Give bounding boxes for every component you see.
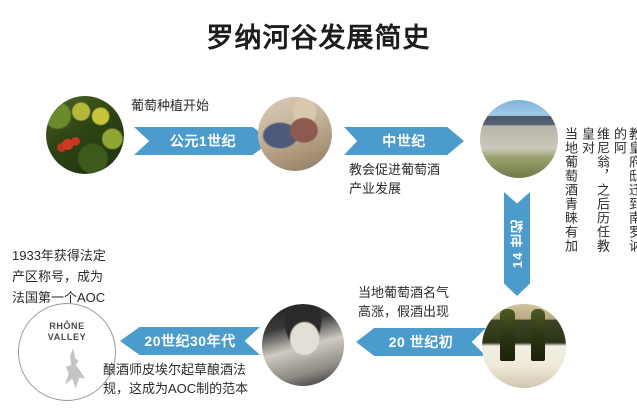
arrow-label-step-3: 14 世纪 <box>508 219 527 268</box>
vertical-column-1: 教皇府邸迁到南罗讷的阿 <box>612 127 637 255</box>
rhone-valley-map-icon <box>61 348 86 390</box>
rhone-valley-logo: RHÔNE VALLEY <box>18 303 116 401</box>
caption-step-6: 1933年获得法定 产区称号，成为 法国第一个AOC <box>12 245 106 308</box>
caption-step-3-vertical: 教皇府邸迁到南罗讷的阿 维尼翁，之后历任教皇对 当地葡萄酒青睐有加 <box>563 127 637 255</box>
caption-step-5: 酿酒师皮埃尔起草酿酒法 规，这成为AOC制的范本 <box>103 360 248 398</box>
arrow-step-1[interactable]: 公元1世纪 <box>134 127 272 155</box>
image-medieval-manuscript <box>258 97 332 171</box>
image-vineyard-grapes <box>46 96 124 174</box>
wine-bottles-photo <box>482 304 566 388</box>
image-chateau-palace <box>480 100 558 178</box>
arrow-label-step-4: 20 世纪初 <box>389 332 453 352</box>
logo-line-2: VALLEY <box>19 332 115 343</box>
caption-step-1: 葡萄种植开始 <box>131 96 209 115</box>
image-wine-bottles <box>482 304 566 388</box>
vertical-column-3: 当地葡萄酒青睐有加 <box>563 127 578 255</box>
chateau-palace-photo <box>480 100 558 178</box>
caption-step-4: 当地葡萄酒名气 高涨，假酒出现 <box>358 283 449 321</box>
page-title: 罗纳河谷发展简史 <box>0 16 637 55</box>
logo-text: RHÔNE VALLEY <box>19 321 115 343</box>
vineyard-grapes-photo <box>46 96 124 174</box>
image-pierre-portrait <box>262 304 344 386</box>
arrow-label-step-1: 公元1世纪 <box>170 131 236 151</box>
arrow-step-5[interactable]: 20世纪30年代 <box>120 327 260 355</box>
caption-step-2: 教会促进葡萄酒 产业发展 <box>349 160 440 198</box>
medieval-manuscript-photo <box>258 97 332 171</box>
arrow-step-2[interactable]: 中世纪 <box>344 127 464 155</box>
arrow-step-3[interactable]: 14 世纪 <box>504 192 530 296</box>
slide-canvas: 罗纳河谷发展简史 葡萄种植开始 公元1世纪 中世纪 教会促进葡萄酒 产业发展 教… <box>0 0 637 412</box>
arrow-label-step-2: 中世纪 <box>382 131 426 151</box>
logo-line-1: RHÔNE <box>19 321 115 332</box>
pierre-portrait-photo <box>262 304 344 386</box>
arrow-label-step-5: 20世纪30年代 <box>144 331 235 351</box>
vertical-column-2: 维尼翁，之后历任教皇对 <box>580 127 610 255</box>
arrow-step-4[interactable]: 20 世纪初 <box>356 328 486 356</box>
